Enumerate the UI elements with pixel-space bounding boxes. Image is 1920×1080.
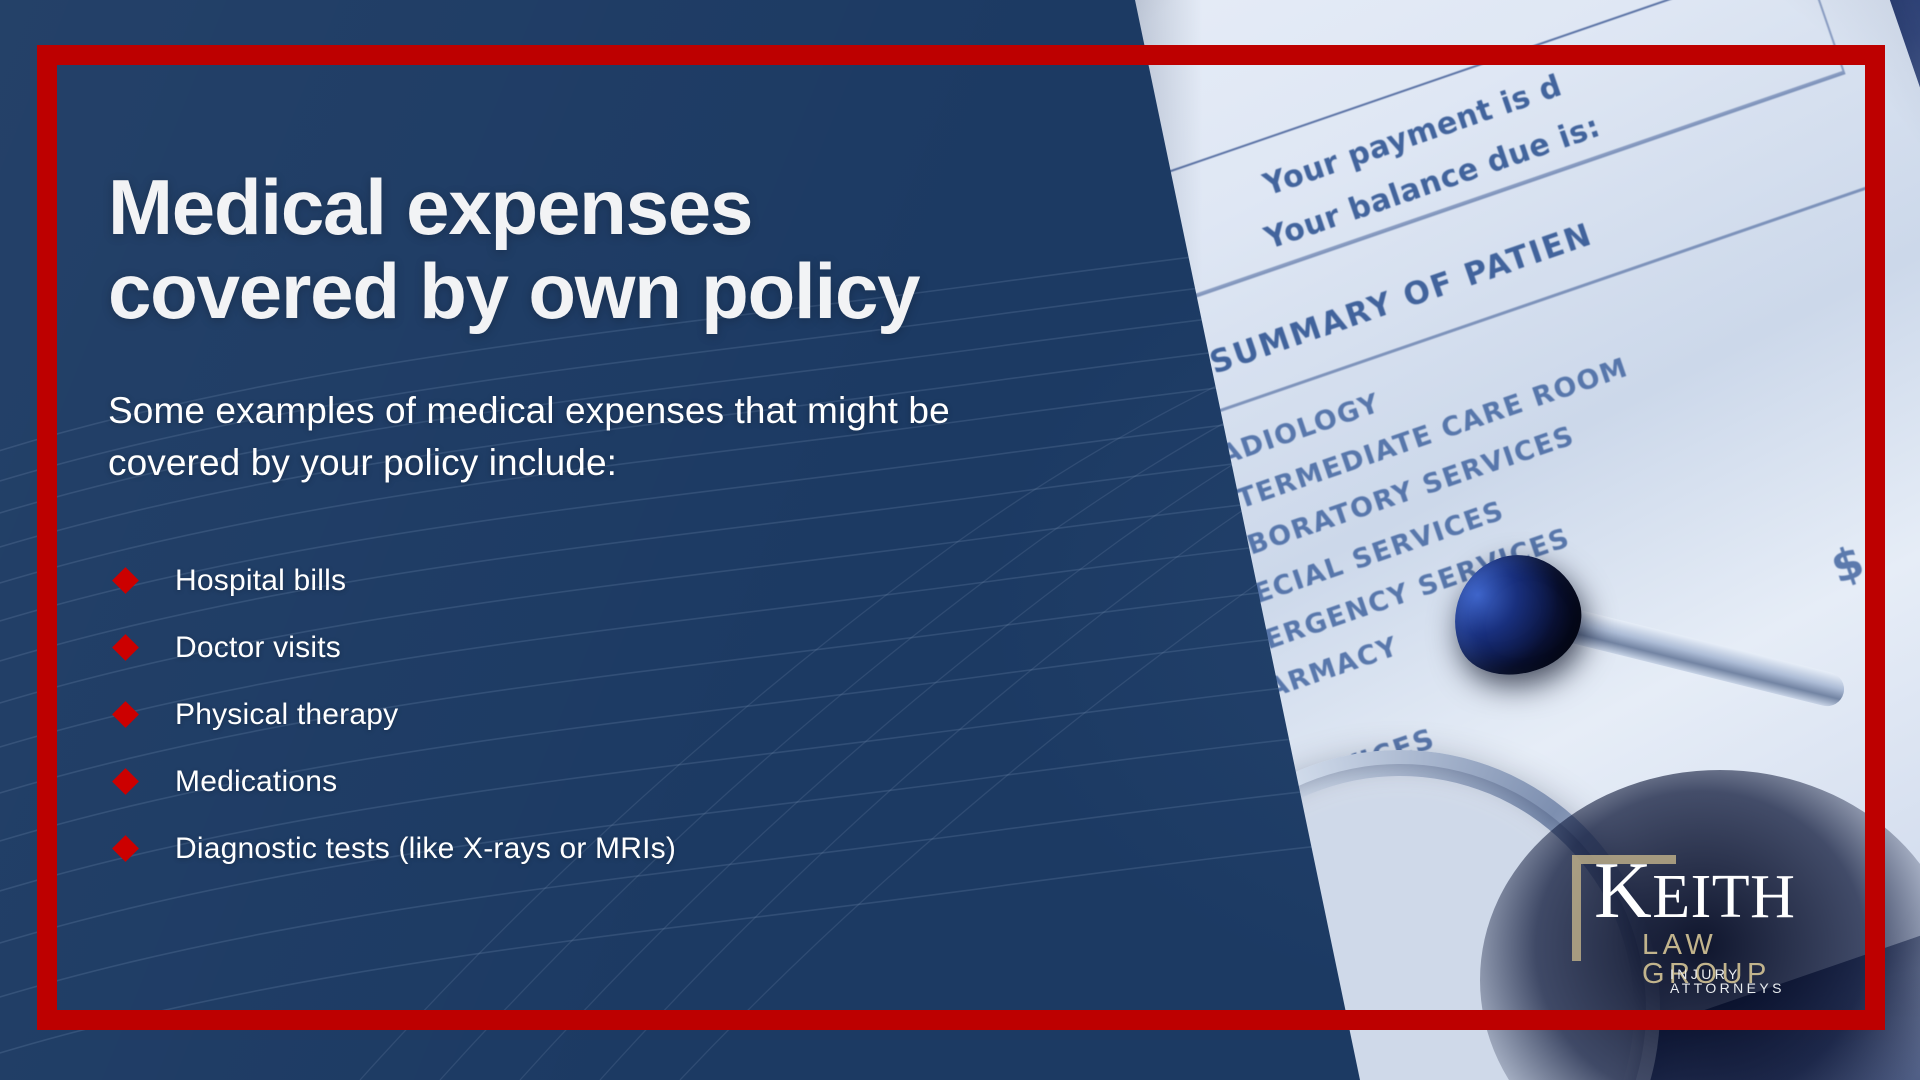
content-block: Medical expenses covered by own policy S… [108,165,1108,899]
list-item-label: Physical therapy [175,698,398,732]
benefits-list: Hospital bills Doctor visits Physical th… [108,564,1108,866]
logo-name-initial: K [1594,847,1652,935]
logo-name: KEITH [1594,851,1795,931]
logo-name-rest: EITH [1652,863,1795,931]
diamond-bullet-icon [112,701,139,728]
diamond-bullet-icon [112,835,139,862]
list-item: Doctor visits [108,631,1108,665]
list-item-label: Medications [175,765,337,799]
list-item: Physical therapy [108,698,1108,732]
list-item-label: Hospital bills [175,564,346,598]
keith-law-group-logo[interactable]: KEITH LAW GROUP INJURY ATTORNEYS [1570,845,1840,985]
list-item-label: Diagnostic tests (like X-rays or MRIs) [175,832,676,866]
diamond-bullet-icon [112,768,139,795]
headline-line-2: covered by own policy [108,247,919,335]
list-item: Hospital bills [108,564,1108,598]
diamond-bullet-icon [112,567,139,594]
page-title: Medical expenses covered by own policy [108,165,1108,333]
list-item: Diagnostic tests (like X-rays or MRIs) [108,832,1108,866]
list-item-label: Doctor visits [175,631,341,665]
promotional-graphic: Your payment is d Your balance due is: S… [0,0,1920,1080]
subheading: Some examples of medical expenses that m… [108,385,1038,487]
logo-tagline: INJURY ATTORNEYS [1670,967,1840,995]
list-item: Medications [108,765,1108,799]
diamond-bullet-icon [112,634,139,661]
headline-line-1: Medical expenses [108,163,752,251]
